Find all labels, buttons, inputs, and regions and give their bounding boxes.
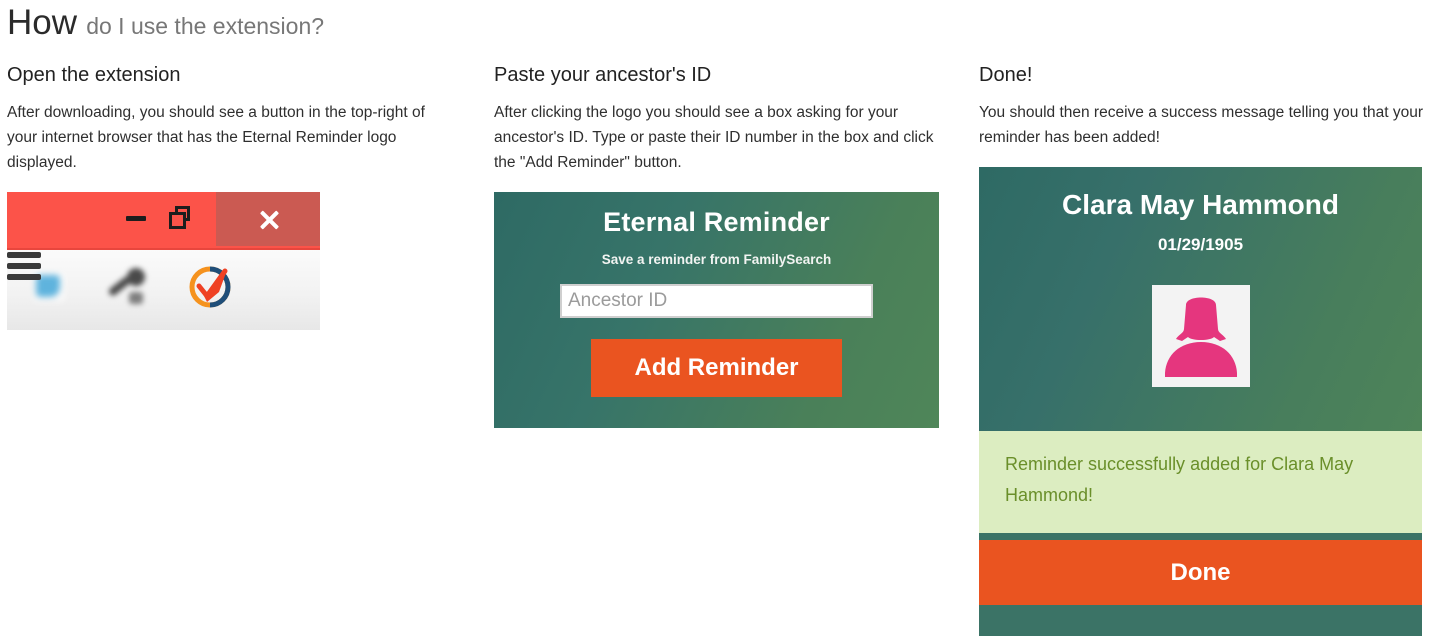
hamburger-menu-icon xyxy=(7,250,41,284)
popup-title: Eternal Reminder xyxy=(494,192,939,238)
ancestor-id-input[interactable] xyxy=(560,284,873,318)
page-title-strong: How xyxy=(7,3,77,42)
step-3-title: Done! xyxy=(979,62,1424,88)
ancestor-date: 01/29/1905 xyxy=(979,221,1422,255)
step-column-done: Done! You should then receive a success … xyxy=(979,62,1424,150)
step-3-body: You should then receive a success messag… xyxy=(979,100,1424,150)
extension-popup-screenshot: Eternal Reminder Save a reminder from Fa… xyxy=(494,192,939,428)
step-2-body: After clicking the logo you should see a… xyxy=(494,100,942,175)
step-column-paste-id: Paste your ancestor's ID After clicking … xyxy=(494,62,942,175)
browser-toolbar-screenshot xyxy=(7,192,320,330)
restore-window-icon xyxy=(167,204,197,234)
eternal-reminder-logo-icon xyxy=(185,262,235,312)
female-avatar-icon xyxy=(1152,285,1250,387)
success-message: Reminder successfully added for Clara Ma… xyxy=(979,431,1422,533)
key-extension-icon xyxy=(105,264,151,310)
success-footer xyxy=(979,605,1422,636)
add-reminder-button[interactable]: Add Reminder xyxy=(591,339,842,397)
blue-extension-icon xyxy=(27,264,73,310)
step-1-title: Open the extension xyxy=(7,62,437,88)
step-2-title: Paste your ancestor's ID xyxy=(494,62,942,88)
browser-titlebar xyxy=(7,192,320,250)
success-popup-screenshot: Clara May Hammond 01/29/1905 Reminder su… xyxy=(979,167,1422,639)
minimize-icon xyxy=(126,216,146,221)
close-icon xyxy=(256,207,282,233)
success-header: Clara May Hammond 01/29/1905 xyxy=(979,167,1422,431)
page-title-muted: do I use the extension? xyxy=(86,13,324,39)
step-1-body: After downloading, you should see a butt… xyxy=(7,100,437,175)
page-title: How do I use the extension? xyxy=(7,0,324,49)
popup-subtitle: Save a reminder from FamilySearch xyxy=(494,238,939,267)
step-column-open-extension: Open the extension After downloading, yo… xyxy=(7,62,437,175)
success-divider xyxy=(979,533,1422,540)
browser-extension-toolbar xyxy=(7,250,320,330)
ancestor-name: Clara May Hammond xyxy=(979,167,1422,221)
done-button[interactable]: Done xyxy=(979,540,1422,605)
